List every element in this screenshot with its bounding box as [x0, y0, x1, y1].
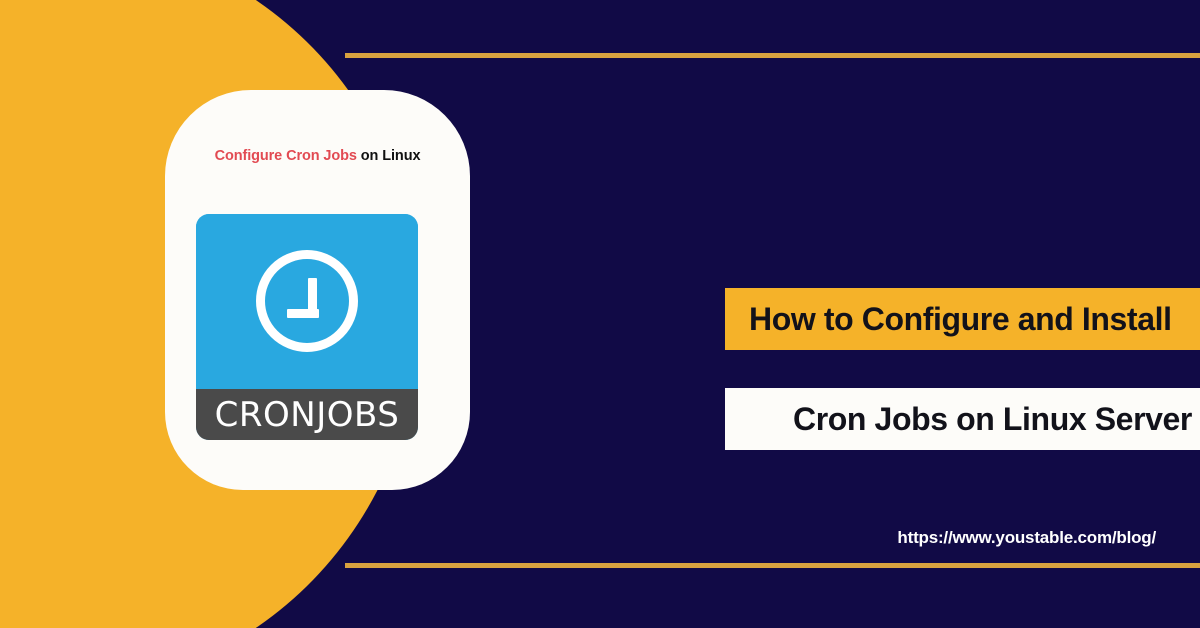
headline-banner-primary: How to Configure and Install [725, 288, 1200, 350]
logo-wordmark: CRONJOBS [215, 395, 400, 435]
feature-card: Configure Cron Jobs on Linux CRONJOBS [165, 90, 470, 490]
card-title-accent: Configure Cron Jobs [215, 148, 357, 164]
logo-top-panel [196, 214, 418, 389]
clock-icon [256, 250, 358, 352]
divider-line-top [345, 53, 1200, 58]
headline-line-2: Cron Jobs on Linux Server [749, 401, 1192, 438]
clock-hand-horizontal [287, 309, 319, 318]
headline-line-1: How to Configure and Install [749, 301, 1172, 338]
divider-line-bottom [345, 563, 1200, 568]
cronjobs-logo-tile: CRONJOBS [196, 214, 418, 440]
footer-url[interactable]: https://www.youstable.com/blog/ [897, 528, 1156, 548]
headline-banner-secondary: Cron Jobs on Linux Server [725, 388, 1200, 450]
logo-wordmark-band: CRONJOBS [196, 389, 418, 440]
card-title-plain: on Linux [357, 148, 421, 164]
card-title: Configure Cron Jobs on Linux [165, 148, 470, 164]
banner-canvas: Configure Cron Jobs on Linux CRONJOBS Ho… [0, 0, 1200, 628]
